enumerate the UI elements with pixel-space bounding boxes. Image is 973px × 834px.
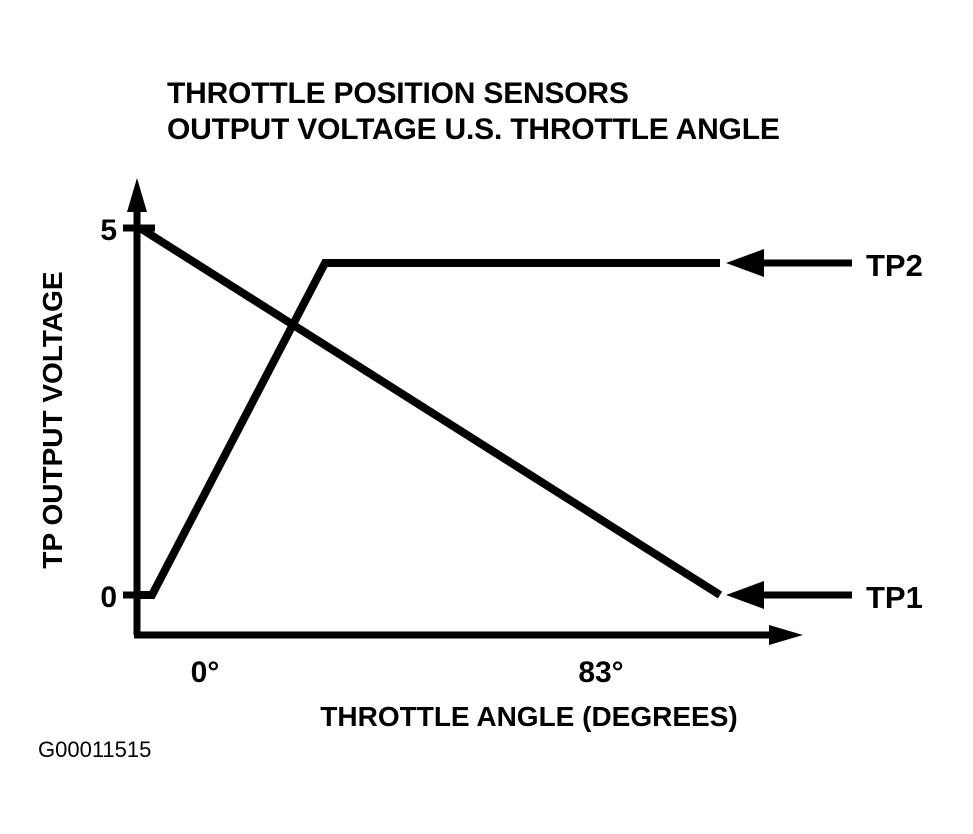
y-tick-label-0: 0 <box>100 581 117 614</box>
figure-canvas: THROTTLE POSITION SENSORS OUTPUT VOLTAGE… <box>0 0 973 834</box>
y-tick-label-5: 5 <box>100 214 117 247</box>
x-axis-title: THROTTLE ANGLE (DEGREES) <box>320 701 737 732</box>
x-tick-label-0deg: 0° <box>191 656 220 689</box>
figure-reference-code: G00011515 <box>38 737 151 762</box>
throttle-position-sensor-chart: THROTTLE POSITION SENSORS OUTPUT VOLTAGE… <box>0 0 973 834</box>
series-line-tp1 <box>140 228 720 595</box>
y-axis-title: TP OUTPUT VOLTAGE <box>37 271 68 568</box>
x-tick-label-83deg: 83° <box>578 656 623 689</box>
chart-title-line-1: THROTTLE POSITION SENSORS <box>167 77 629 110</box>
series-label-tp1: TP1 <box>866 580 923 615</box>
y-axis-arrowhead <box>127 178 147 212</box>
x-axis-arrowhead <box>769 625 803 645</box>
tp1-callout-arrowhead-icon <box>726 581 764 609</box>
chart-title-line-2: OUTPUT VOLTAGE U.S. THROTTLE ANGLE <box>167 113 780 146</box>
series-label-tp2: TP2 <box>866 248 923 283</box>
series-line-tp2 <box>137 263 720 595</box>
tp2-callout-arrowhead-icon <box>726 249 764 277</box>
